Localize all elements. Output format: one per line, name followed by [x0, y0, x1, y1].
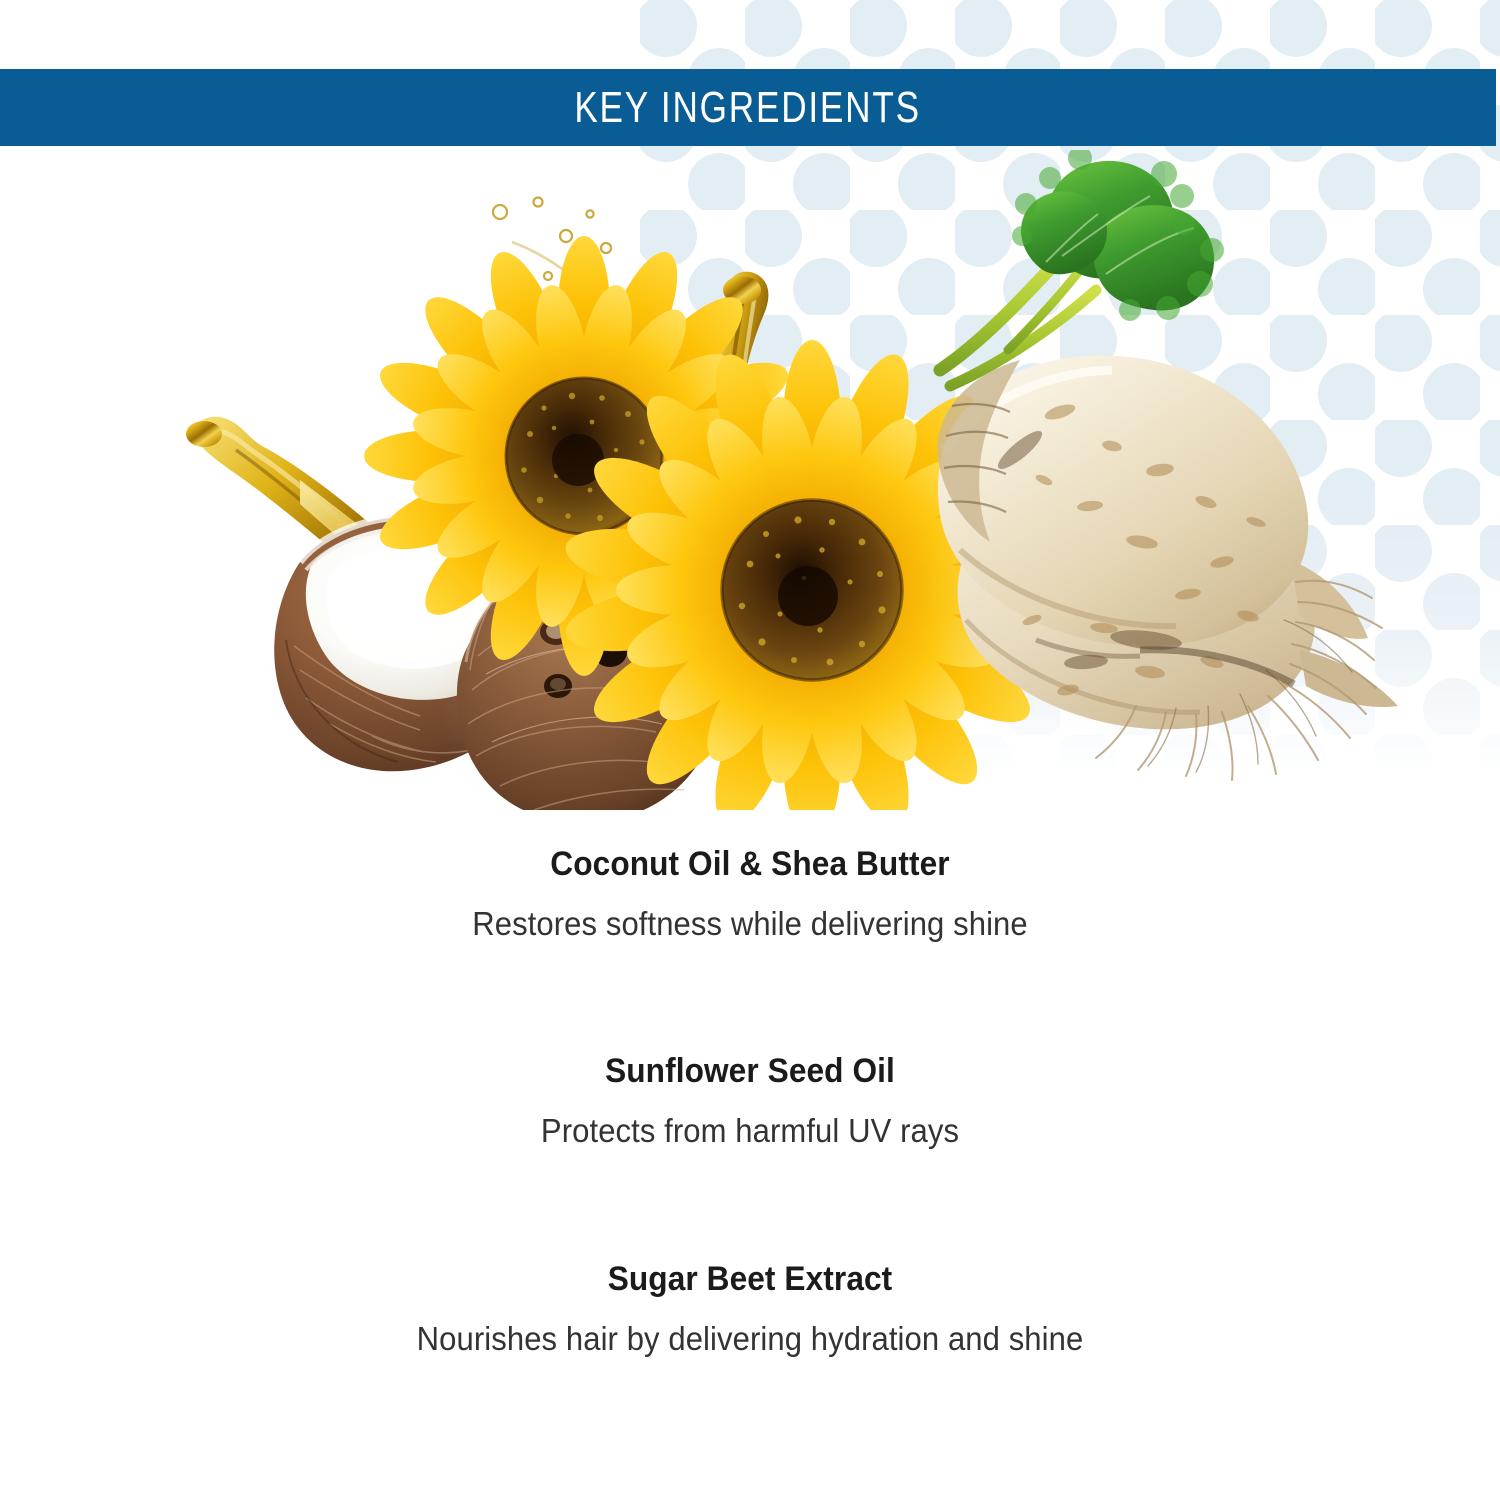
ingredient-item-sugar-beet: Sugar Beet Extract Nourishes hair by del… [0, 1260, 1500, 1359]
ingredient-description: Nourishes hair by delivering hydration a… [45, 1319, 1455, 1359]
page-title: KEY INGREDIENTS [575, 86, 922, 130]
ingredient-title: Sugar Beet Extract [53, 1260, 1448, 1299]
ingredient-item-coconut: Coconut Oil & Shea Butter Restores softn… [0, 845, 1500, 944]
sugar-beet-icon [930, 150, 1398, 780]
ingredient-description: Restores softness while delivering shine [45, 904, 1455, 944]
header-banner: KEY INGREDIENTS [0, 69, 1496, 146]
list-spacer [0, 1210, 1500, 1260]
ingredient-description: Protects from harmful UV rays [45, 1111, 1455, 1151]
beet-leaves-icon [1012, 150, 1224, 321]
ingredient-item-sunflower: Sunflower Seed Oil Protects from harmful… [0, 1052, 1500, 1151]
ingredient-list: Coconut Oil & Shea Butter Restores softn… [0, 845, 1500, 1359]
hero-ingredient-image [0, 150, 1500, 810]
ingredient-title: Coconut Oil & Shea Butter [53, 845, 1448, 884]
list-spacer [0, 1004, 1500, 1052]
ingredient-title: Sunflower Seed Oil [53, 1052, 1448, 1091]
